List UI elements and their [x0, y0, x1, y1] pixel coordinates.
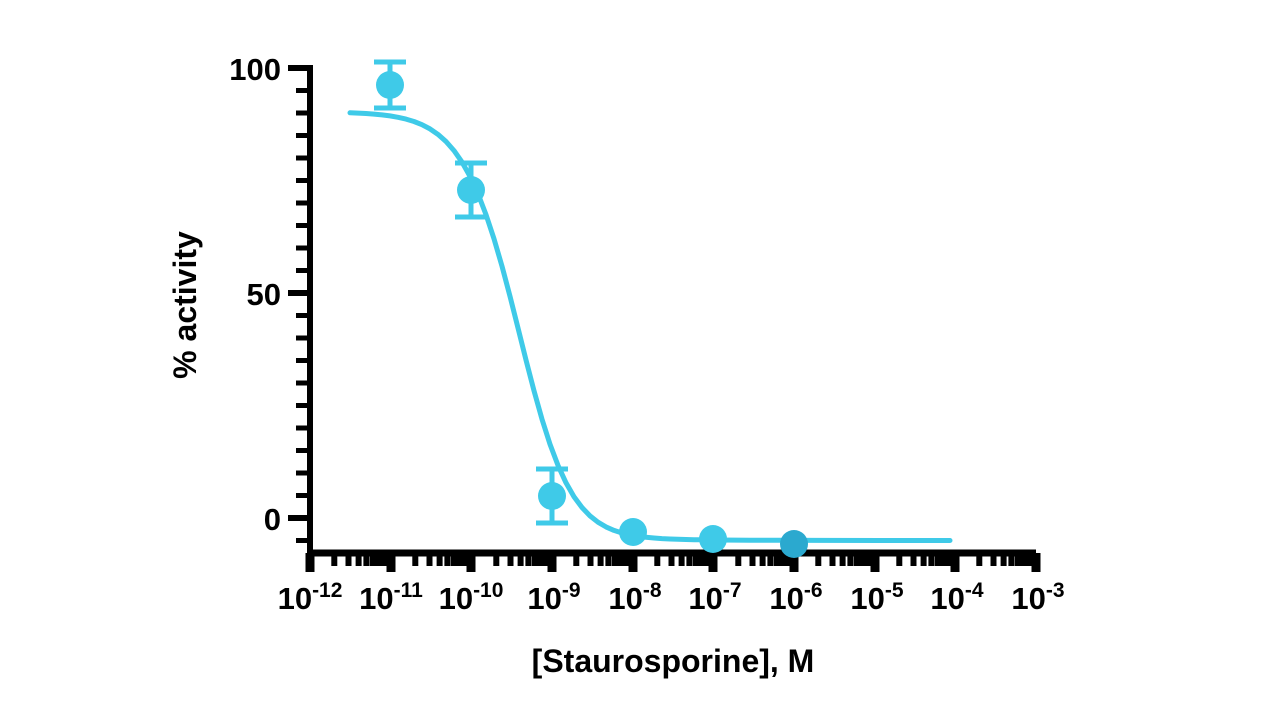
x-tick-label-7: 10-6	[769, 579, 822, 616]
x-tick-mantissa: 10	[527, 581, 561, 616]
x-tick-label-6: 10-7	[688, 579, 741, 616]
x-tick-mantissa: 10	[688, 581, 722, 616]
y-minor-ticks	[296, 91, 310, 541]
x-tick-mantissa: 10	[850, 581, 884, 616]
x-tick-mantissa: 10	[359, 581, 393, 616]
fit-curve	[350, 113, 950, 541]
x-tick-label-5: 10-8	[608, 579, 661, 616]
y-tick-label-0: 0	[264, 502, 281, 537]
x-tick-label-8: 10-5	[850, 579, 903, 616]
x-tick-exponent: -3	[1046, 579, 1065, 602]
x-tick-exponent: -12	[312, 579, 342, 602]
data-point	[619, 518, 647, 546]
y-axis-title: % activity	[167, 231, 203, 379]
x-tick-exponent: -11	[394, 579, 424, 602]
y-tick-label-50: 50	[247, 277, 281, 312]
data-points	[376, 71, 808, 558]
data-point	[376, 71, 404, 99]
data-point	[780, 530, 808, 558]
x-tick-mantissa: 10	[278, 581, 312, 616]
x-tick-exponent: -8	[643, 579, 662, 602]
chart-figure: 100 50 0 10-12 10-11 10-10 10-9 10-8 10-…	[0, 0, 1280, 720]
x-tick-label-1: 10-12	[278, 579, 343, 616]
x-tick-mantissa: 10	[439, 581, 473, 616]
x-tick-labels: 10-12 10-11 10-10 10-9 10-8 10-7 10-6 10…	[278, 579, 1065, 616]
dose-response-plot: 100 50 0 10-12 10-11 10-10 10-9 10-8 10-…	[0, 0, 1280, 720]
data-point	[699, 525, 727, 553]
x-tick-label-4: 10-9	[527, 579, 580, 616]
x-tick-exponent: -10	[473, 579, 503, 602]
data-point	[457, 176, 485, 204]
x-tick-mantissa: 10	[608, 581, 642, 616]
x-tick-label-2: 10-11	[359, 579, 423, 616]
error-bars	[374, 62, 568, 523]
x-tick-exponent: -4	[965, 579, 984, 602]
x-tick-label-10: 10-3	[1011, 579, 1064, 616]
x-tick-exponent: -9	[562, 579, 581, 602]
x-tick-label-9: 10-4	[930, 579, 983, 616]
data-point	[538, 482, 566, 510]
x-tick-mantissa: 10	[930, 581, 964, 616]
x-tick-mantissa: 10	[769, 581, 803, 616]
x-tick-mantissa: 10	[1011, 581, 1045, 616]
x-axis-title: [Staurosporine], M	[532, 643, 815, 679]
y-tick-label-100: 100	[229, 52, 281, 87]
x-tick-exponent: -6	[804, 579, 823, 602]
x-tick-label-3: 10-10	[439, 579, 504, 616]
x-tick-exponent: -5	[885, 579, 904, 602]
x-tick-exponent: -7	[723, 579, 742, 602]
